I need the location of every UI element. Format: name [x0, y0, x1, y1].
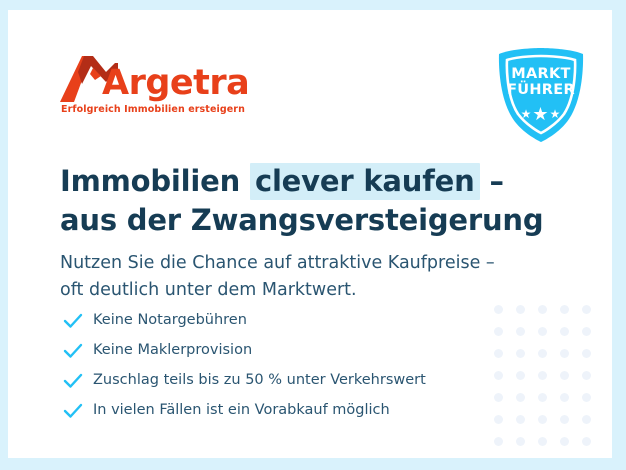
list-item: Zuschlag teils bis zu 50 % unter Verkehr…: [63, 366, 533, 396]
logo-wordmark: Argetra: [102, 66, 249, 101]
badge-text: MARKT FÜHRER: [495, 67, 587, 98]
headline-part-1: Immobilien: [60, 164, 250, 198]
list-item: Keine Notargebühren: [63, 306, 533, 336]
star-icon-left: ★: [521, 107, 533, 121]
promo-banner-card: Argetra Erfolgreich Immobilien ersteiger…: [8, 10, 612, 458]
check-icon: [63, 312, 93, 330]
check-icon: [63, 372, 93, 390]
subheadline-line-2: oft deutlich unter dem Marktwert.: [60, 280, 357, 300]
argetra-logo[interactable]: Argetra Erfolgreich Immobilien ersteiger…: [60, 54, 260, 122]
benefit-label: Keine Maklerprovision: [93, 342, 252, 359]
headline-line-2: aus der Zwangsversteigerung: [60, 203, 543, 237]
check-icon: [63, 342, 93, 360]
star-icon-center: ★: [532, 104, 549, 124]
logo-tagline: Erfolgreich Immobilien ersteigern: [61, 104, 245, 115]
check-icon: [63, 402, 93, 420]
market-leader-badge: MARKT FÜHRER ★★★: [495, 47, 587, 143]
benefit-label: Zuschlag teils bis zu 50 % unter Verkehr…: [93, 372, 426, 389]
headline-highlight: clever kaufen: [250, 163, 480, 200]
list-item: In vielen Fällen ist ein Vorabkauf mögli…: [63, 396, 533, 426]
subheadline: Nutzen Sie die Chance auf attraktive Kau…: [60, 250, 580, 304]
benefit-label: In vielen Fällen ist ein Vorabkauf mögli…: [93, 402, 390, 419]
headline: Immobilien clever kaufen – aus der Zwang…: [60, 162, 580, 239]
star-icon-right: ★: [550, 107, 562, 121]
badge-line-1: MARKT: [495, 67, 587, 83]
headline-part-2: –: [480, 164, 504, 198]
badge-stars: ★★★: [495, 105, 587, 123]
benefit-label: Keine Notargebühren: [93, 312, 247, 329]
badge-line-2: FÜHRER: [495, 83, 587, 99]
list-item: Keine Maklerprovision: [63, 336, 533, 366]
benefit-list: Keine Notargebühren Keine Maklerprovisio…: [63, 306, 533, 426]
subheadline-line-1: Nutzen Sie die Chance auf attraktive Kau…: [60, 253, 495, 273]
